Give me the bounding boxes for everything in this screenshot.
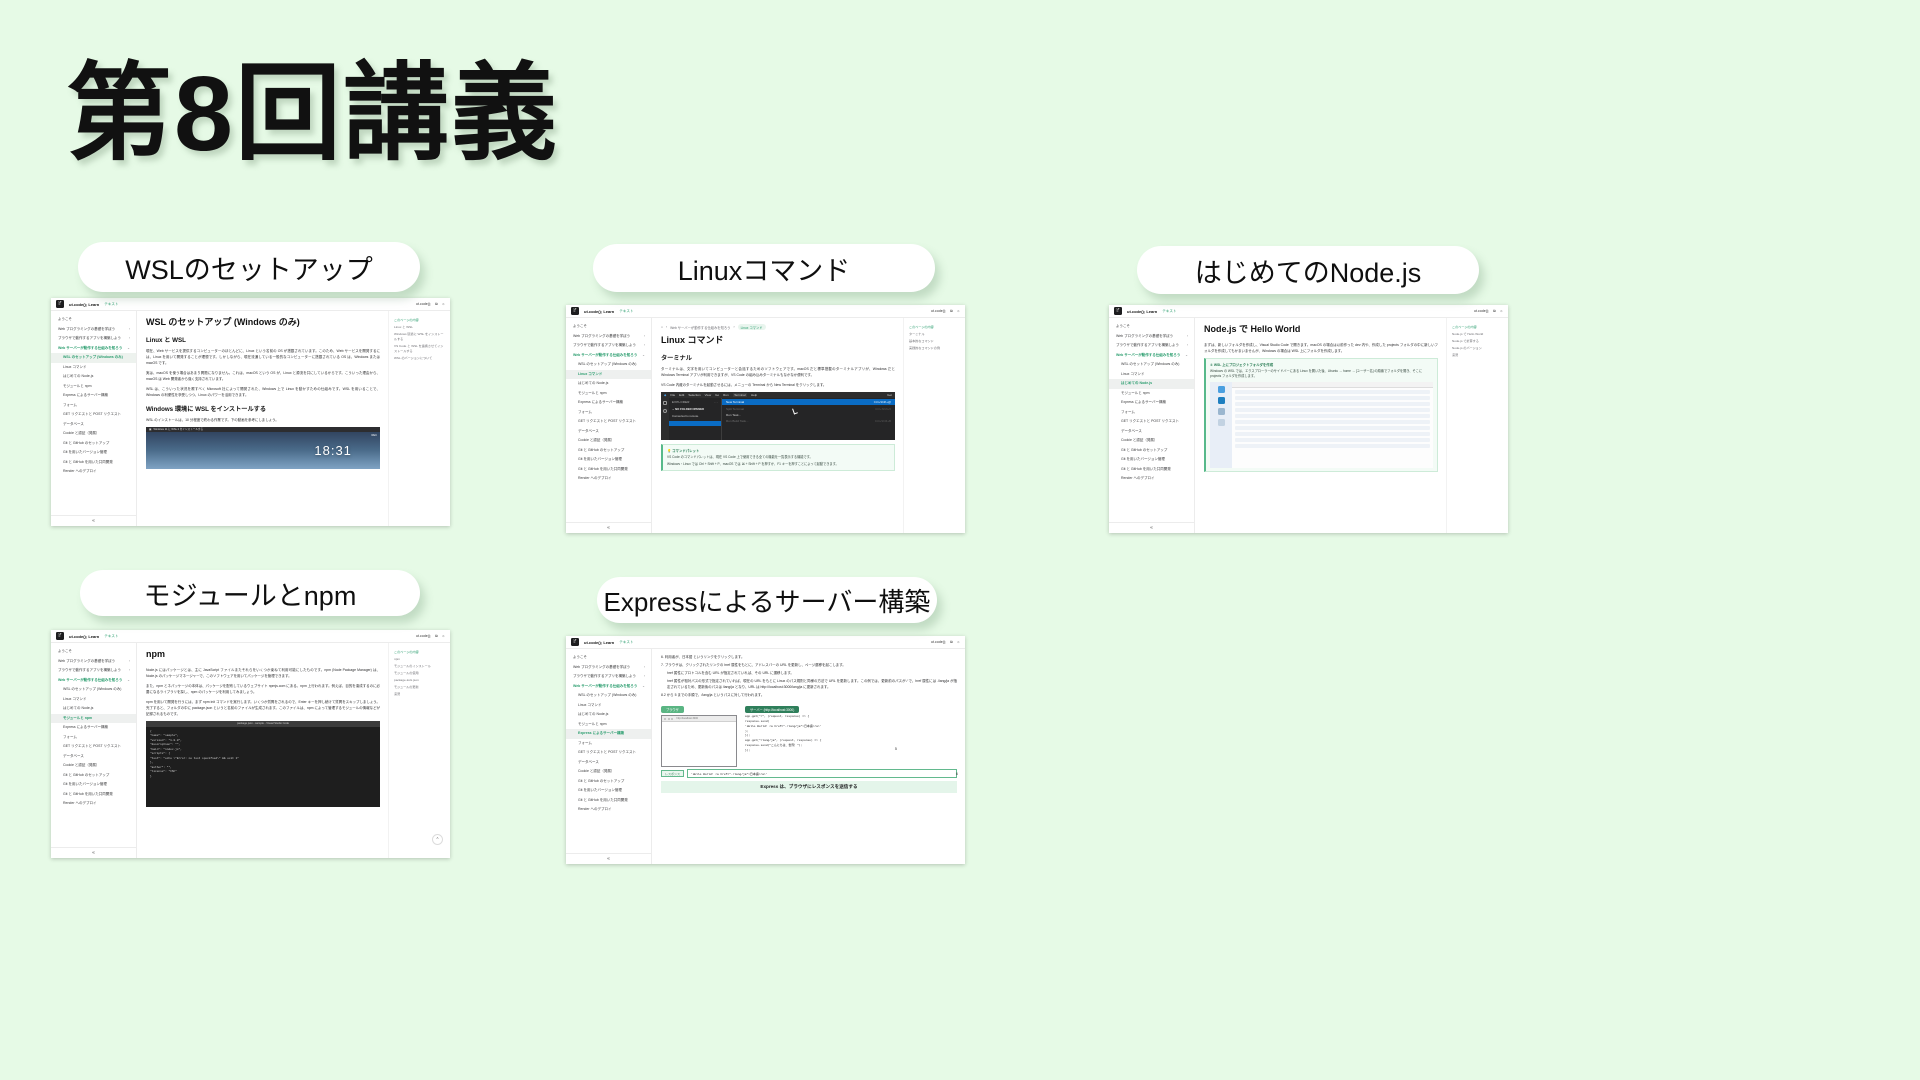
terminal-dropdown-menu[interactable]: New Terminal Ctrl+Shift+@ Split Terminal… — [721, 398, 895, 440]
brand-name: ut.code(); Learn — [584, 640, 614, 645]
sidebar-label: Linux コマンド — [63, 697, 130, 702]
sidebar-item-cookie[interactable]: Cookie と認証（発展） — [566, 767, 651, 777]
sidebar-item-wsl[interactable]: WSL のセットアップ (Windows のみ) — [51, 353, 136, 363]
sidebar-label: フォーム — [63, 735, 130, 740]
sidebar-item-git-setup[interactable]: Git と GitHub のセットアップ — [566, 777, 651, 787]
sidebar-label: WSL のセットアップ (Windows のみ) — [63, 355, 130, 360]
sidebar-label: Git を用いたバージョン管理 — [578, 457, 645, 462]
menu-view[interactable]: View — [705, 393, 711, 397]
sidebar-item-render[interactable]: Render へのデプロイ — [51, 467, 136, 477]
toc-item[interactable]: モジュールのインストール — [394, 664, 445, 669]
brightness-icon[interactable]: ☼ — [442, 302, 445, 306]
sidebar-item-cookie[interactable]: Cookie と認証（発展） — [51, 761, 136, 771]
page-heading: Linux コマンド — [661, 335, 895, 347]
sidebar-item-express[interactable]: Express によるサーバー構築 — [51, 723, 136, 733]
thumbnail-wsl[interactable]: UTC ut.code(); Learn テキスト ut.code(); ⧉ ☼… — [51, 298, 450, 526]
sidebar-group-basics[interactable]: Web プログラミングの基礎を学ぼう› — [566, 663, 651, 673]
sidebar-label: データベース — [63, 754, 130, 759]
code-line: } — [150, 775, 376, 779]
sidebar-item-welcome[interactable]: ようこそ — [566, 322, 651, 332]
brightness-icon[interactable]: ☼ — [1500, 309, 1503, 313]
sidebar[interactable]: ようこそ Web プログラミングの基礎を学ぼう› ブラウザで動作するアプリを構築… — [566, 649, 652, 864]
chevron-up-icon: ⌃ — [435, 837, 439, 843]
brand-right: ut.code(); — [416, 634, 431, 638]
sidebar-item-form[interactable]: フォーム — [1109, 408, 1194, 418]
vscode-screenshot: ◆ File Edit Selection View Go Run Termin… — [661, 392, 895, 440]
brand-name: ut.code(); Learn — [584, 309, 614, 314]
sidebar-item-render[interactable]: Render へのデプロイ — [566, 805, 651, 815]
server-tag: サーバー (http://localhost:3000) — [745, 706, 799, 713]
sidebar-label: はじめての Node.js — [63, 706, 130, 711]
app-icon — [1218, 408, 1225, 415]
sidebar[interactable]: ようこそ Web プログラミングの基礎を学ぼう › ブラウザで動作するアプリを構… — [51, 311, 137, 526]
sidebar-group-server[interactable]: Web サーバーが動作する仕組みを知ろう⌄ — [566, 351, 651, 361]
sidebar-collapse-button[interactable]: « — [1109, 522, 1194, 533]
sidebar-item-render[interactable]: Render へのデプロイ — [1109, 474, 1194, 484]
sidebar-item-git-collab[interactable]: Git と GitHub を用いた共同開発 — [51, 790, 136, 800]
brightness-icon[interactable]: ☼ — [957, 309, 960, 313]
sidebar-item-git-version[interactable]: Git を用いたバージョン管理 — [1109, 455, 1194, 465]
folder-label: NO FOLDER OPENED — [675, 407, 704, 411]
brand-right: ut.code(); — [416, 302, 431, 306]
video-thumbnail[interactable]: ▣ Windows 11 に WSL 2 をインストールする REC 18:31 — [146, 427, 380, 469]
sidebar-label: フォーム — [1121, 410, 1188, 415]
utcode-logo-icon: UTC — [56, 300, 64, 308]
paragraph-3: WSL は、こういった状況を覆すべく Microsoft 社によって開発された、… — [146, 386, 380, 398]
sidebar-group-server[interactable]: Web サーバーが動作する仕組みを知ろう ⌄ — [51, 344, 136, 354]
list-step-8: 8.2 から 5 までの手順で、/lang/ja というパスに対して行われます。 — [661, 692, 957, 698]
thumbnail-linux[interactable]: UTC ut.code(); Learn テキスト ut.code(); ⧉ ☼… — [566, 305, 965, 533]
thumb-header: UTC ut.code(); Learn テキスト ut.code(); ⧉ ☼ — [51, 630, 450, 643]
sidebar-label: Web プログラミングの基礎を学ぼう — [573, 334, 641, 339]
sidebar-item-npm[interactable]: モジュールと npm — [51, 714, 136, 724]
breadcrumb-sep: › — [733, 325, 734, 329]
diagram-caption: Express は、ブラウザにレスポンスを送信する — [661, 781, 957, 793]
bullet-2: href 属性が相対パスの形式で指定されていれば、現在の URL をもとに Li… — [661, 678, 957, 690]
sidebar-label: Render へのデプロイ — [1121, 476, 1188, 481]
sidebar-item-getpost[interactable]: GET リクエストと POST リクエスト — [566, 748, 651, 758]
sidebar-label: Git と GitHub のセットアップ — [1121, 448, 1188, 453]
callout-command-palette: 💡 コマンドパレット VS Code のコマンドパレットは、現在 VS Code… — [661, 444, 895, 471]
sidebar-item-node[interactable]: はじめての Node.js — [566, 710, 651, 720]
sidebar-label: Cookie と認証（発展） — [578, 769, 645, 774]
sidebar-item-welcome[interactable]: ようこそ — [51, 315, 136, 325]
toc-item[interactable]: 実践的なコマンドの例 — [909, 346, 960, 351]
sidebar-label: ブラウザで動作するアプリを構築しよう — [573, 343, 641, 348]
card-label-text: はじめてのNode.js — [1195, 251, 1422, 290]
sidebar-item-linux[interactable]: Linux コマンド — [1109, 370, 1194, 380]
sidebar-item-git-setup[interactable]: Git と GitHub のセットアップ — [51, 771, 136, 781]
chevron-down-icon: ⌄ — [1185, 353, 1188, 358]
toc-heading: このページの内容 — [909, 325, 960, 330]
sidebar-group-browser[interactable]: ブラウザで動作するアプリを構築しよう› — [566, 341, 651, 351]
toc-item[interactable]: npm — [394, 657, 445, 662]
diagram-browser-col: ブラウザ http://localhost:3000 — [661, 706, 737, 767]
list-item[interactable] — [1235, 408, 1430, 412]
sidebar-label: Git と GitHub を用いた共同開発 — [578, 798, 645, 803]
breadcrumb: ⌂ › Web サーバーが動作する仕組みを知ろう › Linux コマンド — [661, 324, 895, 330]
sidebar-item-git-setup[interactable]: Git と GitHub のセットアップ — [1109, 446, 1194, 456]
nav-text-link[interactable]: テキスト — [1162, 309, 1176, 314]
sidebar-group-browser[interactable]: ブラウザで動作するアプリを構築しよう› — [566, 672, 651, 682]
sidebar-item-getpost[interactable]: GET リクエストと POST リクエスト — [1109, 417, 1194, 427]
menu-item-label: New Terminal — [726, 400, 744, 404]
sidebar-item-express[interactable]: Express によるサーバー構築 — [566, 398, 651, 408]
sidebar-item-wsl[interactable]: WSL のセットアップ (Windows のみ) — [566, 691, 651, 701]
sidebar-item-npm[interactable]: モジュールと npm — [51, 382, 136, 392]
thumb-body: ようこそ Web プログラミングの基礎を学ぼう› ブラウザで動作するアプリを構築… — [51, 643, 450, 858]
sidebar-item-node[interactable]: はじめての Node.js — [1109, 379, 1194, 389]
sidebar-item-node[interactable]: はじめての Node.js — [566, 379, 651, 389]
list-item[interactable] — [1235, 420, 1430, 424]
sidebar-group-browser[interactable]: ブラウザで動作するアプリを構築しよう› — [1109, 341, 1194, 351]
sidebar-label: ブラウザで動作するアプリを構築しよう — [573, 674, 641, 679]
toc-item[interactable]: Windows 環境に WSL をインストールする — [394, 332, 445, 342]
card-label-node[interactable]: はじめてのNode.js — [1137, 246, 1479, 294]
explorer-toolbar[interactable] — [1232, 382, 1433, 388]
sidebar-item-linux[interactable]: Linux コマンド — [51, 363, 136, 373]
brand-right: ut.code(); — [931, 640, 946, 644]
sidebar-label: Git と GitHub を用いた共同開発 — [63, 792, 130, 797]
sidebar-item-git-setup[interactable]: Git と GitHub のセットアップ — [566, 446, 651, 456]
breadcrumb-current: Linux コマンド — [738, 324, 766, 330]
sidebar-group-server[interactable]: Web サーバーが動作する仕組みを知ろう⌄ — [1109, 351, 1194, 361]
sidebar-item-cookie[interactable]: Cookie と認証（発展） — [1109, 436, 1194, 446]
main-content: 6. 利用者が、日本語 というリンクをクリックします。 7. ブラウザは、クリッ… — [652, 649, 965, 864]
explorer-caption: EXPLORER ··· — [672, 400, 718, 404]
sidebar-label: データベース — [63, 422, 130, 427]
menu-item-label: Split Terminal — [726, 407, 744, 411]
sidebar[interactable]: ようこそ Web プログラミングの基礎を学ぼう› ブラウザで動作するアプリを構築… — [51, 643, 137, 858]
browser-url[interactable]: http://localhost:3000 — [677, 717, 698, 720]
sidebar-label: Git と GitHub を用いた共同開発 — [578, 467, 645, 472]
sidebar-item-git-version[interactable]: Git を用いたバージョン管理 — [566, 786, 651, 796]
sidebar-label: はじめての Node.js — [63, 374, 130, 379]
sidebar-collapse-button[interactable]: « — [51, 847, 136, 858]
utcode-logo-icon: UTC — [571, 307, 579, 315]
sidebar-item-getpost[interactable]: GET リクエストと POST リクエスト — [566, 417, 651, 427]
callout-title: ① WSL 上にプロジェクトフォルダを作成 — [1210, 362, 1433, 367]
sidebar-item-git-collab[interactable]: Git と GitHub を用いた共同開発 — [566, 465, 651, 475]
section-heading-2: Windows 環境に WSL をインストールする — [146, 404, 380, 413]
card-label-wsl[interactable]: WSLのセットアップ — [78, 242, 420, 292]
vscode-logo-icon: ◆ — [664, 393, 666, 397]
paragraph-2: 実は、macOS を使う場合はあまり問題になりません。これは、macOS という… — [146, 370, 380, 382]
menu-terminal[interactable]: Terminal — [733, 393, 747, 397]
thumbnail-node[interactable]: UTC ut.code(); Learn テキスト ut.code(); ⧉ ☼… — [1109, 305, 1508, 533]
sidebar-item-wsl[interactable]: WSL のセットアップ (Windows のみ) — [1109, 360, 1194, 370]
sidebar-label: ようこそ — [573, 655, 645, 660]
toc-item[interactable]: ターミナル — [909, 332, 960, 337]
list-item[interactable] — [1235, 414, 1430, 418]
list-item[interactable] — [1235, 390, 1430, 394]
sidebar-item-node[interactable]: はじめての Node.js — [51, 372, 136, 382]
main-content: ⌂ › Web サーバーが動作する仕組みを知ろう › Linux コマンド Li… — [652, 318, 903, 533]
sidebar-collapse-button[interactable]: « — [566, 522, 651, 533]
code-screenshot: { "name": "sample", "version": "1.0.0", … — [146, 727, 380, 807]
sidebar-item-getpost[interactable]: GET リクエストと POST リクエスト — [51, 742, 136, 752]
brand-right: ut.code(); — [931, 309, 946, 313]
sidebar-group-browser[interactable]: ブラウザで動作するアプリを構築しよう › — [51, 334, 136, 344]
paragraph-3: npm を用いて開発を行うには、まず npm init コマンドを実行します。い… — [146, 699, 380, 717]
more-actions-icon[interactable]: ··· — [714, 400, 718, 404]
sidebar-label: GET リクエストと POST リクエスト — [1121, 419, 1188, 424]
sidebar-group-basics[interactable]: Web プログラミングの基礎を学ぼう› — [566, 332, 651, 342]
brand-right: ut.code(); — [1474, 309, 1489, 313]
sidebar[interactable]: ようこそ Web プログラミングの基礎を学ぼう› ブラウザで動作するアプリを構築… — [566, 318, 652, 533]
page-heading: npm — [146, 649, 380, 661]
server-code: app.get("/", (request, response) => { re… — [745, 715, 957, 753]
thumbnail-npm[interactable]: UTC ut.code(); Learn テキスト ut.code(); ⧉ ☼… — [51, 630, 450, 858]
home-icon[interactable]: ⌂ — [661, 325, 663, 329]
breadcrumb-sep: › — [666, 325, 667, 329]
sidebar-item-welcome[interactable]: ようこそ — [1109, 322, 1194, 332]
thumb-body: ようこそ Web プログラミングの基礎を学ぼう › ブラウザで動作するアプリを構… — [51, 311, 450, 526]
sidebar-item-linux[interactable]: Linux コマンド — [51, 695, 136, 705]
sidebar-group-server[interactable]: Web サーバーが動作する仕組みを知ろう⌄ — [566, 682, 651, 692]
sidebar-collapse-button[interactable]: « — [51, 515, 136, 526]
sidebar-item-welcome[interactable]: ようこそ — [51, 647, 136, 657]
sidebar-item-git-version[interactable]: Git を用いたバージョン管理 — [51, 780, 136, 790]
sidebar-label: Linux コマンド — [1121, 372, 1188, 377]
sidebar-item-git-version[interactable]: Git を用いたバージョン管理 — [566, 455, 651, 465]
nav-text-link[interactable]: テキスト — [104, 634, 118, 639]
files-icon[interactable] — [663, 401, 667, 405]
card-label-text: Expressによるサーバー構築 — [604, 582, 931, 619]
sidebar-label: ようこそ — [58, 317, 130, 322]
sidebar-label: GET リクエストと POST リクエスト — [578, 419, 645, 424]
sidebar-item-database[interactable]: データベース — [1109, 427, 1194, 437]
video-icon: ▣ — [149, 428, 151, 431]
toc-item[interactable]: モジュールの更新 — [394, 685, 445, 690]
sidebar-group-basics[interactable]: Web プログラミングの基礎を学ぼう› — [1109, 332, 1194, 342]
chevron-down-icon: ⌄ — [127, 678, 130, 683]
sidebar-group-browser[interactable]: ブラウザで動作するアプリを構築しよう› — [51, 666, 136, 676]
sidebar[interactable]: ようこそ Web プログラミングの基礎を学ぼう› ブラウザで動作するアプリを構築… — [1109, 318, 1195, 533]
vscode-workbench: EXPLORER ··· ⌄ NO FOLDER OPENED Connecte… — [661, 398, 895, 440]
list-item[interactable] — [1235, 438, 1430, 442]
sidebar-label: Express によるサーバー構築 — [1121, 400, 1188, 405]
menu-help[interactable]: Help — [751, 393, 757, 397]
toc-item[interactable]: 演習 — [1452, 353, 1503, 358]
sidebar-label: Web プログラミングの基礎を学ぼう — [58, 327, 126, 332]
sidebar-label: はじめての Node.js — [1121, 381, 1188, 386]
chevron-right-icon: › — [644, 665, 645, 670]
sidebar-collapse-button[interactable]: « — [566, 853, 651, 864]
express-diagram: ブラウザ http://localhost:3000 サーバー (http://… — [661, 702, 957, 767]
sidebar-label: Git を用いたバージョン管理 — [63, 782, 130, 787]
menu-item-shortcut: Ctrl+Shift+@ — [874, 400, 891, 404]
paragraph-2: VS Code 内蔵のターミナルを起動させるには、メニューの Terminal … — [661, 382, 895, 388]
sidebar-label: モジュールと npm — [1121, 391, 1188, 396]
sidebar-item-git-version[interactable]: Git を用いたバージョン管理 — [51, 448, 136, 458]
toc-item[interactable]: Node.js のバージョン — [1452, 346, 1503, 351]
toc-item[interactable]: Node.js で計算する — [1452, 339, 1503, 344]
breadcrumb-parent[interactable]: Web サーバーが動作する仕組みを知ろう — [670, 325, 730, 330]
browser-toolbar: http://localhost:3000 — [662, 716, 736, 722]
card-label-express[interactable]: Expressによるサーバー構築 — [597, 577, 937, 623]
step-badge-5: 5 — [895, 746, 897, 751]
card-label-npm[interactable]: モジュールとnpm — [80, 570, 420, 616]
sidebar-item-database[interactable]: データベース — [51, 420, 136, 430]
sidebar-label: WSL のセットアップ (Windows のみ) — [578, 693, 645, 698]
sidebar-item-git-collab[interactable]: Git と GitHub を用いた共同開発 — [1109, 465, 1194, 475]
sidebar-item-form[interactable]: フォーム — [51, 733, 136, 743]
toc-item[interactable]: Node.js で Hello World — [1452, 332, 1503, 337]
callout-title: 💡 コマンドパレット — [667, 448, 890, 453]
external-link-icon[interactable]: ⧉ — [950, 309, 953, 313]
sidebar-item-linux[interactable]: Linux コマンド — [566, 701, 651, 711]
explorer-nav-pane — [1210, 382, 1232, 468]
toc-item[interactable]: Linux と WSL — [394, 325, 445, 330]
sidebar-group-basics[interactable]: Web プログラミングの基礎を学ぼう› — [51, 657, 136, 667]
thumb-header: UTC ut.code(); Learn テキスト ut.code(); ⧉ ☼ — [566, 305, 965, 318]
list-item[interactable] — [1235, 402, 1430, 406]
sidebar-label: Web サーバーが動作する仕組みを知ろう — [1116, 353, 1182, 358]
list-step-6: 6. 利用者が、日本語 というリンクをクリックします。 — [661, 654, 957, 660]
menu-item-label: Run Task... — [726, 413, 741, 417]
sidebar-label: Web プログラミングの基礎を学ぼう — [1116, 334, 1184, 339]
sidebar-item-form[interactable]: フォーム — [51, 401, 136, 411]
chevron-down-icon: ⌄ — [642, 684, 645, 689]
sidebar-label: ブラウザで動作するアプリを構築しよう — [58, 668, 126, 673]
sidebar-label: Render へのデプロイ — [578, 807, 645, 812]
browser-dot-icon — [664, 718, 666, 720]
sidebar-item-render[interactable]: Render へのデプロイ — [51, 799, 136, 809]
sidebar-item-database[interactable]: データベース — [566, 758, 651, 768]
nav-text-link[interactable]: テキスト — [104, 302, 118, 307]
sidebar-label: Express によるサーバー構築 — [63, 725, 130, 730]
sidebar-item-git-setup[interactable]: Git と GitHub のセットアップ — [51, 439, 136, 449]
sidebar-group-server[interactable]: Web サーバーが動作する仕組みを知ろう⌄ — [51, 676, 136, 686]
sidebar-label: ブラウザで動作するアプリを構築しよう — [1116, 343, 1184, 348]
page-heading: WSL のセットアップ (Windows のみ) — [146, 317, 380, 329]
thumb-body: ようこそ Web プログラミングの基礎を学ぼう› ブラウザで動作するアプリを構築… — [1109, 318, 1508, 533]
thumb-header: UTC ut.code(); Learn テキスト ut.code(); ⧉ ☼ — [566, 636, 965, 649]
sidebar-item-database[interactable]: データベース — [51, 752, 136, 762]
callout-body: Windows の WSL では、エクスプローラーのサイドバーにある Linux… — [1210, 369, 1433, 379]
sidebar-item-git-collab[interactable]: Git と GitHub を用いた共同開発 — [51, 458, 136, 468]
toc-item[interactable]: VS Code と WSL を連携させてインストールする — [394, 344, 445, 354]
edge-icon — [1218, 397, 1225, 404]
browser-dot-icon — [668, 718, 670, 720]
sidebar-item-form[interactable]: フォーム — [566, 739, 651, 749]
sidebar-label: はじめての Node.js — [578, 381, 645, 386]
menu-go[interactable]: Go — [715, 393, 719, 397]
header-right: ut.code(); ⧉ ☼ — [931, 640, 960, 644]
sidebar-item-render[interactable]: Render へのデプロイ — [566, 474, 651, 484]
menu-item-run-build-task[interactable]: Run Build Task... Ctrl+Shift+B — [722, 418, 895, 424]
list-item[interactable] — [1235, 396, 1430, 400]
sidebar-item-linux[interactable]: Linux コマンド — [566, 370, 651, 380]
list-item[interactable] — [1235, 426, 1430, 430]
sidebar-item-express[interactable]: Express によるサーバー構築 — [51, 391, 136, 401]
paragraph-1: まずは、新しいフォルダを作成し、Visual Studio Code で開きます… — [1204, 342, 1438, 354]
menu-selection[interactable]: Selection — [688, 393, 700, 397]
menu-run[interactable]: Run — [723, 393, 729, 397]
toc-item[interactable]: package-lock.json — [394, 678, 445, 683]
utcode-logo-icon: UTC — [1114, 307, 1122, 315]
sidebar-group-basics[interactable]: Web プログラミングの基礎を学ぼう › — [51, 325, 136, 335]
explorer-panel: EXPLORER ··· ⌄ NO FOLDER OPENED Connecte… — [669, 398, 721, 440]
toc-item[interactable]: 基本的なコマンド — [909, 339, 960, 344]
brightness-icon[interactable]: ☼ — [442, 634, 445, 638]
sidebar-label: Git と GitHub のセットアップ — [63, 441, 130, 446]
list-item[interactable] — [1235, 444, 1430, 448]
thumb-body: ようこそ Web プログラミングの基礎を学ぼう› ブラウザで動作するアプリを構築… — [566, 649, 965, 864]
chevron-right-icon: › — [644, 343, 645, 348]
sidebar-item-npm[interactable]: モジュールと npm — [566, 389, 651, 399]
menu-file[interactable]: File — [670, 393, 675, 397]
menu-item-label: Run Build Task... — [726, 419, 748, 423]
brightness-icon[interactable]: ☼ — [957, 640, 960, 644]
paragraph-1: 現在、Web サービスを提供するコンピューターのほとんどに、Linux という名… — [146, 348, 380, 366]
chevron-right-icon: › — [129, 659, 130, 664]
external-link-icon[interactable]: ⧉ — [950, 640, 953, 644]
sidebar-item-cookie[interactable]: Cookie と認証（発展） — [51, 429, 136, 439]
sidebar-label: Render へのデプロイ — [63, 469, 130, 474]
external-link-icon[interactable]: ⧉ — [1493, 309, 1496, 313]
card-label-linux[interactable]: Linuxコマンド — [593, 244, 935, 292]
toc-item[interactable]: 演習 — [394, 692, 445, 697]
primary-action-button[interactable] — [669, 421, 721, 426]
sidebar-item-npm[interactable]: モジュールと npm — [566, 720, 651, 730]
sidebar-label: GET リクエストと POST リクエスト — [63, 744, 130, 749]
sidebar-item-express[interactable]: Express によるサーバー構築 — [566, 729, 651, 739]
external-link-icon[interactable]: ⧉ — [435, 302, 438, 306]
sidebar-item-wsl[interactable]: WSL のセットアップ (Windows のみ) — [566, 360, 651, 370]
sidebar-item-cookie[interactable]: Cookie と認証（発展） — [566, 436, 651, 446]
sidebar-item-getpost[interactable]: GET リクエストと POST リクエスト — [51, 410, 136, 420]
thumb-body: ようこそ Web プログラミングの基礎を学ぼう› ブラウザで動作するアプリを構築… — [566, 318, 965, 533]
activity-bar[interactable] — [661, 398, 669, 440]
menu-edit[interactable]: Edit — [679, 393, 684, 397]
chevron-right-icon: › — [644, 674, 645, 679]
sidebar-label: はじめての Node.js — [578, 712, 645, 717]
toc-item[interactable]: WSL のバージョンについて — [394, 356, 445, 361]
header-right: ut.code(); ⧉ ☼ — [931, 309, 960, 313]
nav-text-link[interactable]: テキスト — [619, 309, 633, 314]
sidebar-label: Git と GitHub を用いた共同開発 — [63, 460, 130, 465]
list-item[interactable] — [1235, 432, 1430, 436]
search-icon[interactable] — [663, 409, 667, 413]
scroll-to-top-button[interactable]: ⌃ — [432, 834, 443, 845]
video-badge: REC — [372, 434, 377, 437]
toc-item[interactable]: モジュールの使用 — [394, 671, 445, 676]
sidebar-item-npm[interactable]: モジュールと npm — [1109, 389, 1194, 399]
sidebar-item-welcome[interactable]: ようこそ — [566, 653, 651, 663]
thumbnail-express[interactable]: UTC ut.code(); Learn テキスト ut.code(); ⧉ ☼… — [566, 636, 965, 864]
sidebar-label: Render へのデプロイ — [578, 476, 645, 481]
external-link-icon[interactable]: ⧉ — [435, 634, 438, 638]
sidebar-item-git-collab[interactable]: Git と GitHub を用いた共同開発 — [566, 796, 651, 806]
thumb-header: UTC ut.code(); Learn テキスト ut.code(); ⧉ ☼ — [1109, 305, 1508, 318]
nav-text-link[interactable]: テキスト — [619, 640, 633, 645]
page-title: 第8回講義 — [66, 56, 559, 173]
sidebar-item-database[interactable]: データベース — [566, 427, 651, 437]
sidebar-item-node[interactable]: はじめての Node.js — [51, 704, 136, 714]
sidebar-label: ようこそ — [1116, 324, 1188, 329]
explorer-screenshot — [1210, 382, 1433, 468]
paragraph-4: WSL のインストールは、10 分程度で終わる作業です。下の動画を参考にしましょ… — [146, 417, 380, 423]
sidebar-item-express[interactable]: Express によるサーバー構築 — [1109, 398, 1194, 408]
sidebar-item-form[interactable]: フォーム — [566, 408, 651, 418]
explorer-file-pane — [1232, 382, 1433, 468]
page-heading: Node.js で Hello World — [1204, 324, 1438, 336]
paragraph-1: Node.js にはパッケージとは、主に JavaScript ファイルまたそれ… — [146, 667, 380, 679]
sidebar-item-wsl[interactable]: WSL のセットアップ (Windows のみ) — [51, 685, 136, 695]
toc-heading: このページの内容 — [394, 650, 445, 655]
